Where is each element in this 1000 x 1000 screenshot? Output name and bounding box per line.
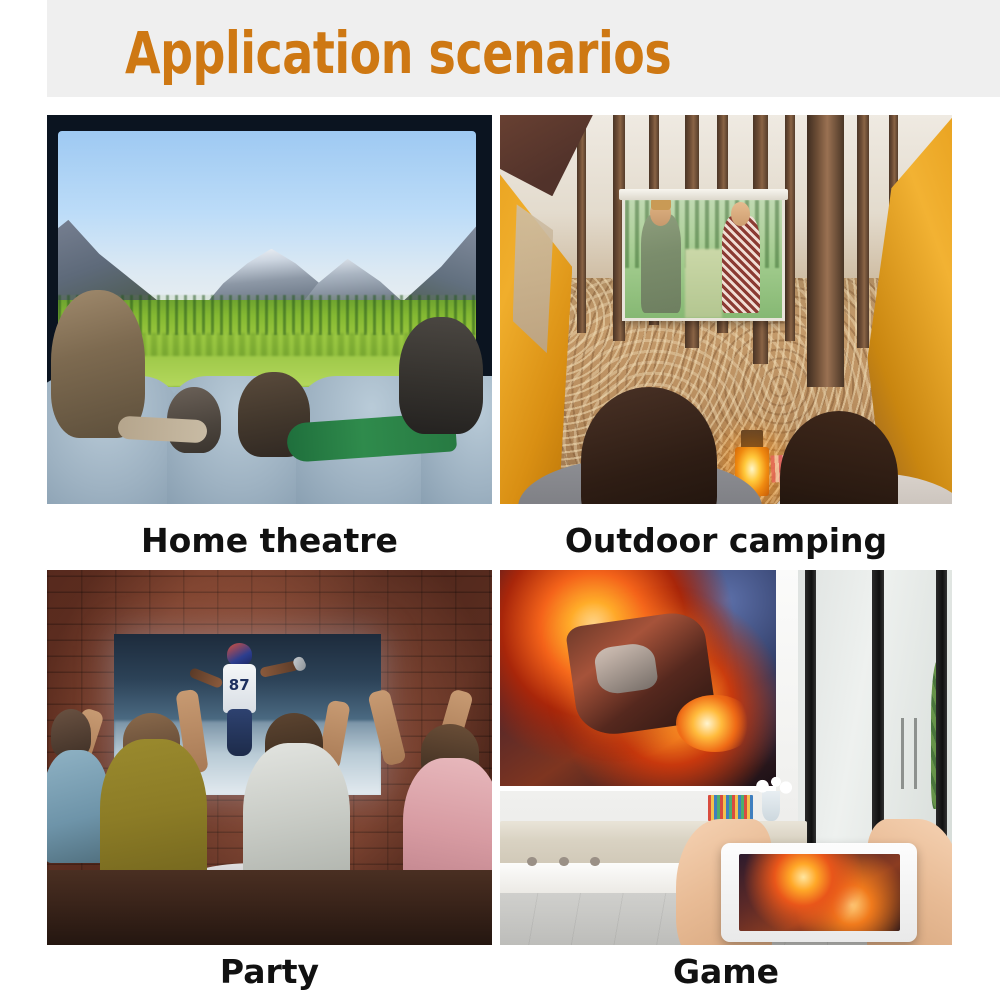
football-player: 87: [210, 643, 269, 756]
home-theatre-photo: [47, 115, 492, 504]
application-scenarios-page: Application scenarios: [0, 0, 1000, 1000]
smartphone[interactable]: [721, 843, 917, 942]
football-helmet-icon: [227, 643, 252, 666]
projection-screen: [500, 570, 776, 791]
tree-trunk: [785, 115, 795, 341]
leather-sofa: [47, 870, 492, 945]
console-knob: [559, 857, 569, 867]
scenario-card-party[interactable]: 87: [47, 570, 492, 945]
movie-actor-male: [641, 214, 682, 314]
movie-path: [685, 249, 723, 318]
explosion-icon: [676, 695, 753, 751]
jersey-number: 87: [223, 676, 256, 694]
viewer-father: [399, 317, 484, 434]
forest-campsite-background: [500, 115, 952, 504]
game-photo: [500, 570, 952, 945]
player-arm-left: [188, 667, 223, 689]
tent-rainfly: [500, 115, 597, 196]
flowers-icon: [749, 773, 794, 796]
console-knob: [527, 857, 537, 867]
scenario-card-game[interactable]: [500, 570, 952, 945]
portable-projection-screen: [622, 197, 785, 321]
tree-trunk: [857, 115, 869, 348]
smartphone-in-hands: [676, 810, 952, 945]
tree-trunk-foreground: [807, 115, 843, 387]
living-room-background: [500, 570, 952, 945]
caption-home-theatre: Home theatre: [47, 521, 492, 560]
football-jersey: 87: [223, 664, 256, 714]
party-photo: 87: [47, 570, 492, 945]
movie-actor-female: [722, 216, 760, 313]
party-room-background: 87: [47, 570, 492, 945]
screen-top-bar: [619, 189, 788, 200]
smartphone-screen[interactable]: [739, 854, 900, 931]
scenario-card-home-theatre[interactable]: [47, 115, 492, 504]
movie-content: [625, 200, 782, 318]
game-content: [500, 570, 776, 786]
living-room-background: [47, 115, 492, 504]
caption-party: Party: [47, 952, 492, 991]
outdoor-camping-photo: [500, 115, 952, 504]
header-band: Application scenarios: [47, 0, 1000, 97]
caption-game: Game: [500, 952, 952, 991]
balcony-railing: [901, 718, 927, 789]
scenario-card-outdoor-camping[interactable]: [500, 115, 952, 504]
caption-outdoor-camping: Outdoor camping: [500, 521, 952, 560]
page-title: Application scenarios: [125, 22, 671, 84]
player-legs: [227, 709, 252, 756]
